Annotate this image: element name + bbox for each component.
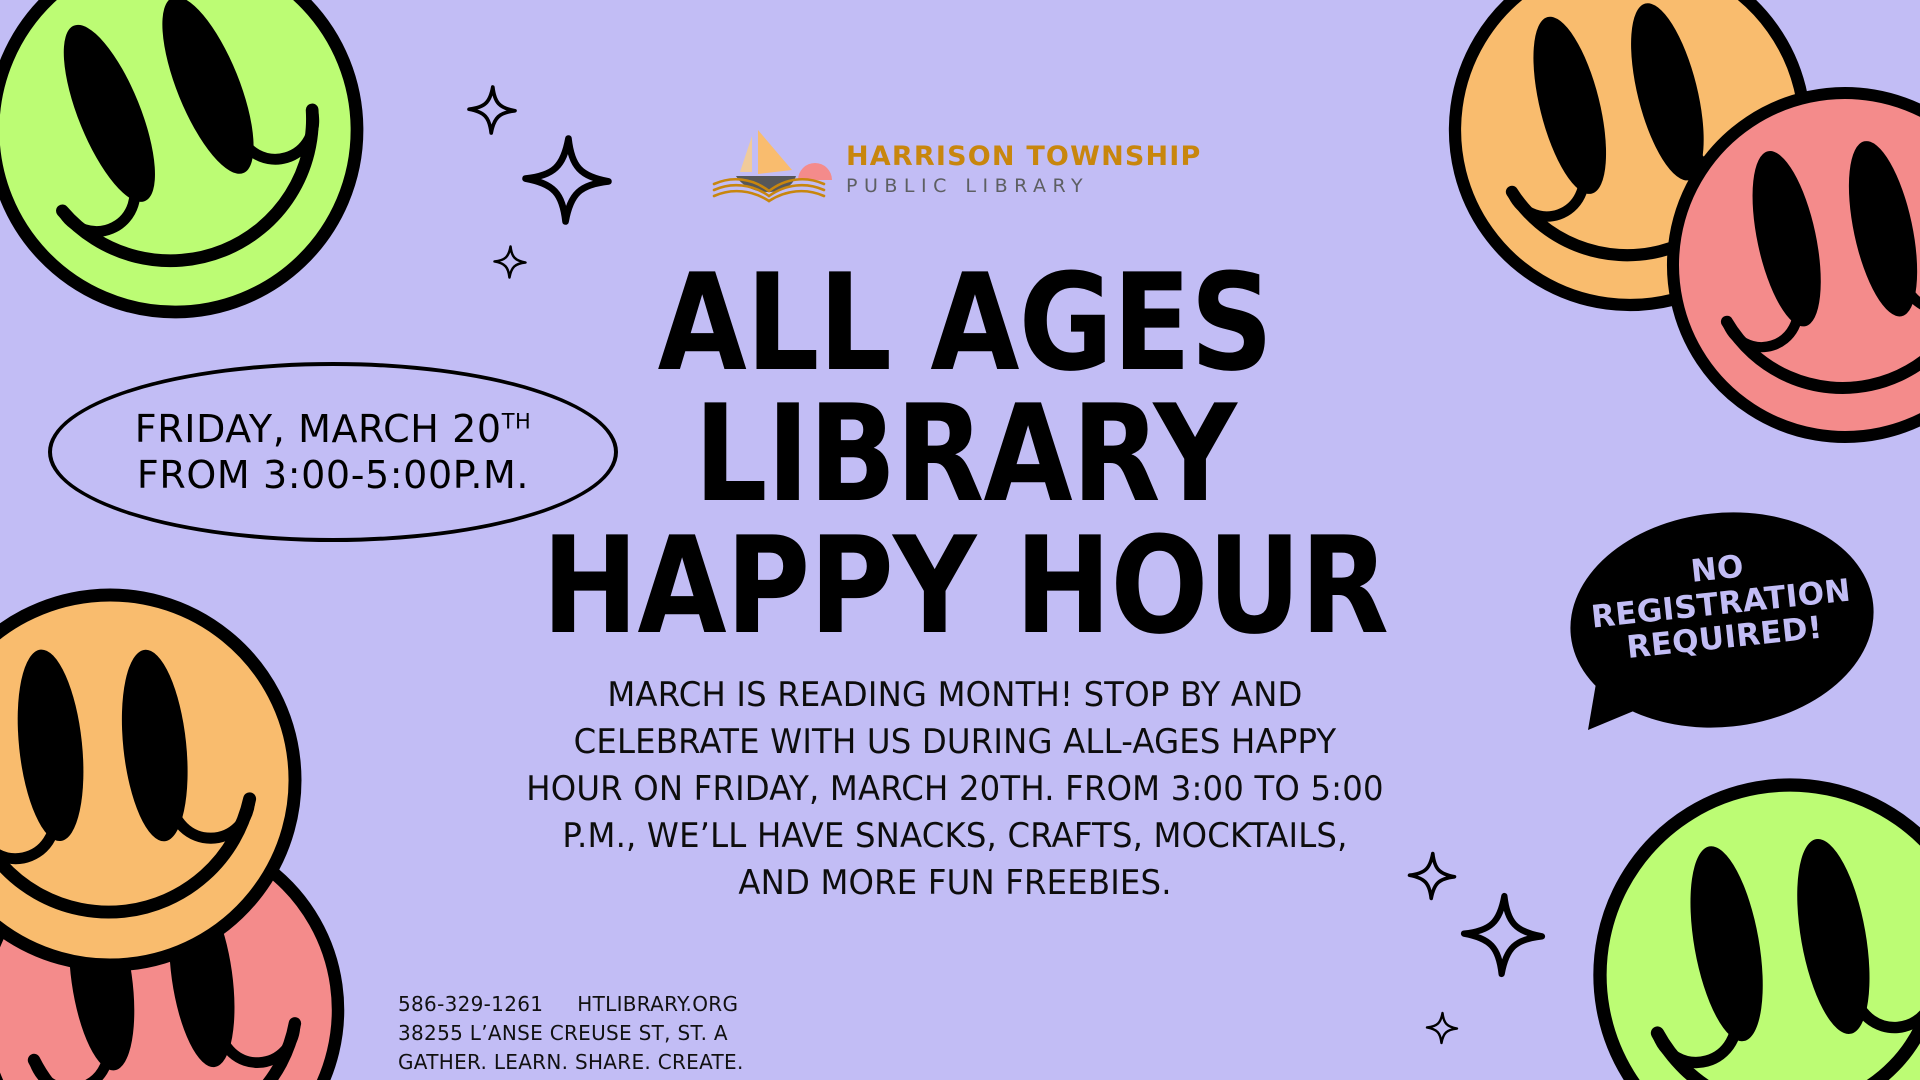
- logo-wordmark: HARRISON TOWNSHIP PUBLIC LIBRARY: [846, 139, 1202, 196]
- footer-address: 38255 L’ANSE CREUSE ST, ST. A: [398, 1019, 744, 1048]
- smiley-bottom-right-green: [1570, 755, 1920, 1080]
- sparkle-top-small-upper: [468, 86, 516, 134]
- event-description: MARCH IS READING MONTH! STOP BY AND CELE…: [523, 672, 1388, 907]
- footer-row-contact: 586-329-1261 HTLIBRARY.ORG: [398, 990, 744, 1019]
- sparkle-bottom-large: [1463, 895, 1544, 976]
- logo-line-public-library: PUBLIC LIBRARY: [846, 177, 1202, 196]
- poster-headline: ALL AGES LIBRARY HAPPY HOUR: [419, 258, 1511, 652]
- footer-phone: 586-329-1261: [398, 990, 543, 1019]
- logo-line-harrison-township: HARRISON TOWNSHIP: [846, 143, 1202, 170]
- footer-tagline: GATHER. LEARN. SHARE. CREATE.: [398, 1048, 744, 1077]
- headline-line-1: ALL AGES: [419, 258, 1511, 389]
- sparkle-bottom-small-upper: [1409, 853, 1456, 900]
- sparkle-top-large: [524, 137, 610, 223]
- sailboat-sun-book-icon: [712, 128, 832, 206]
- poster-canvas: HARRISON TOWNSHIP PUBLIC LIBRARY FRIDAY,…: [0, 0, 1920, 1080]
- headline-line-3: HAPPY HOUR: [419, 521, 1511, 652]
- library-logo: HARRISON TOWNSHIP PUBLIC LIBRARY: [712, 128, 1232, 206]
- sparkle-bottom-tiny: [1426, 1012, 1457, 1043]
- headline-line-2: LIBRARY: [419, 389, 1511, 520]
- smiley-top-left: [0, 0, 412, 367]
- footer-contact-info: 586-329-1261 HTLIBRARY.ORG 38255 L’ANSE …: [398, 990, 744, 1077]
- footer-website: HTLIBRARY.ORG: [577, 990, 738, 1019]
